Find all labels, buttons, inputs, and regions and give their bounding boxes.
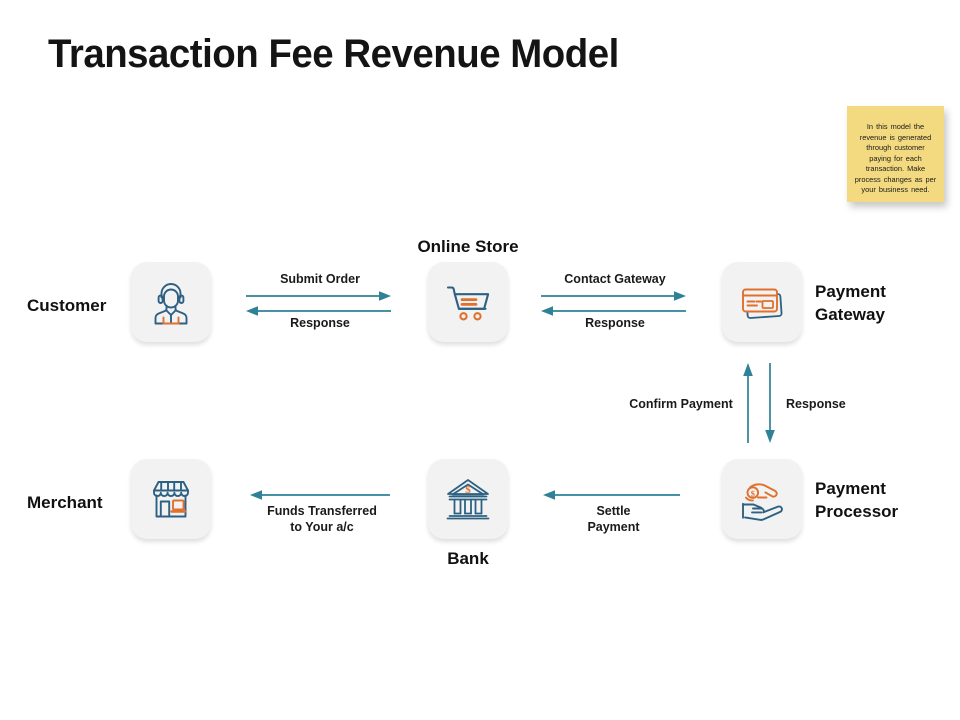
flow-label-funds-transferred: Funds Transferred to Your a/c: [248, 504, 396, 535]
flow-label-contact-gateway: Contact Gateway: [545, 272, 685, 288]
arrow-response-processor: [765, 363, 775, 443]
arrow-submit-order: [246, 291, 391, 301]
arrow-settle-payment: [543, 490, 680, 500]
node-label-payment-gateway: Payment Gateway: [815, 281, 886, 327]
node-label-payment-processor: Payment Processor: [815, 478, 898, 524]
flow-label-response-processor: Response: [786, 397, 896, 413]
customer-support-person-icon: [146, 277, 196, 327]
flow-label-settle-payment: Settle Payment: [545, 504, 682, 535]
shopping-cart-icon: [443, 277, 493, 327]
storefront-icon: [145, 473, 197, 525]
slide-canvas: Transaction Fee Revenue Model In this mo…: [0, 0, 960, 720]
arrow-funds-transferred: [250, 490, 390, 500]
hand-holding-coin-icon: $: [736, 473, 788, 525]
sticky-note: In this model the revenue is generated t…: [847, 106, 944, 202]
node-label-merchant: Merchant: [27, 492, 103, 515]
node-tile-customer[interactable]: [131, 262, 211, 342]
flow-label-response-customer: Response: [250, 316, 390, 332]
flow-label-response-gateway: Response: [545, 316, 685, 332]
arrow-confirm-payment: [743, 363, 753, 443]
node-tile-merchant[interactable]: [131, 459, 211, 539]
credit-card-icon: [736, 276, 788, 328]
svg-text:$: $: [465, 484, 471, 496]
node-label-bank: Bank: [398, 548, 538, 571]
node-label-customer: Customer: [27, 295, 106, 318]
node-tile-payment-gateway[interactable]: [722, 262, 802, 342]
arrow-response-gateway: [541, 306, 686, 316]
arrow-response-customer: [246, 306, 391, 316]
node-tile-payment-processor[interactable]: $: [722, 459, 802, 539]
svg-text:$: $: [751, 489, 755, 498]
node-tile-bank[interactable]: $: [428, 459, 508, 539]
bank-building-icon: $: [442, 473, 494, 525]
node-label-online-store: Online Store: [398, 236, 538, 259]
flow-label-confirm-payment: Confirm Payment: [606, 397, 756, 413]
node-tile-online-store[interactable]: [428, 262, 508, 342]
arrow-contact-gateway: [541, 291, 686, 301]
sticky-note-text: In this model the revenue is generated t…: [847, 106, 944, 196]
flow-label-submit-order: Submit Order: [250, 272, 390, 288]
page-title: Transaction Fee Revenue Model: [48, 32, 619, 77]
